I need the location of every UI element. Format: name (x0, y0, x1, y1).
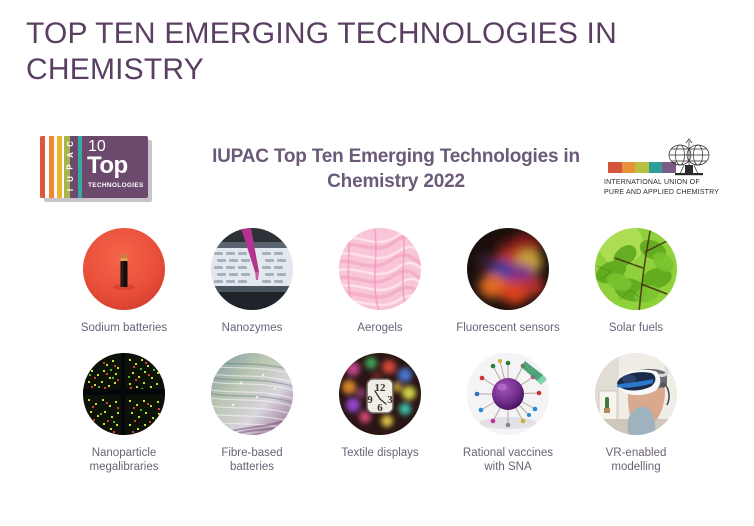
tech-item-rational-vaccines-sna[interactable]: Rational vaccines with SNA (444, 353, 572, 474)
tech-label: Fibre-based batteries (221, 446, 282, 474)
iupac-official-logo: INTERNATIONAL UNION OF PURE AND APPLIED … (604, 138, 730, 200)
tech-item-fluorescent-sensors[interactable]: Fluorescent sensors (444, 228, 572, 335)
tech-label: Sodium batteries (81, 321, 167, 335)
tech-label: Nanoparticle megalibraries (89, 446, 158, 474)
page-title: TOP TEN EMERGING TECHNOLOGIES IN CHEMIST… (26, 16, 726, 88)
nanozyme-pipette-photo (211, 228, 293, 310)
vr-headset-photo (595, 353, 677, 435)
pink-aerogel-photo (339, 228, 421, 310)
tech-item-nanoparticle-megalibraries[interactable]: Nanoparticle megalibraries (60, 353, 188, 474)
tech-label: VR-enabled modelling (606, 446, 667, 474)
technology-grid: Sodium batteries (60, 228, 700, 474)
badge-letter-u: U (67, 176, 75, 182)
badge-iupac-vertical-text: I U P A C (64, 136, 78, 198)
tech-item-solar-fuels[interactable]: Solar fuels (572, 228, 700, 335)
badge-technologies-text: TECHNOLOGIES (88, 182, 144, 190)
slide-page: TOP TEN EMERGING TECHNOLOGIES IN CHEMIST… (0, 0, 754, 526)
badge-letter-a: A (67, 152, 75, 158)
microarray-photo (83, 353, 165, 435)
badge-letter-c: C (67, 141, 75, 147)
tech-label: Solar fuels (609, 321, 663, 335)
iupac-bar-segment-2 (622, 162, 636, 173)
svg-text:9: 9 (367, 394, 373, 406)
slide-heading: IUPAC Top Ten Emerging Technologies in C… (196, 144, 596, 194)
iupac-caption-line2: PURE AND APPLIED CHEMISTRY (604, 188, 730, 198)
iupac-top-ten-badge-logo: I U P A C 10 Top TECHNOLOGIES (40, 136, 152, 202)
tech-label: Fluorescent sensors (456, 321, 560, 335)
globe-icon (660, 138, 718, 178)
iupac-caption-line1: INTERNATIONAL UNION OF (604, 178, 730, 188)
tech-item-aerogels[interactable]: Aerogels (316, 228, 444, 335)
svg-text:3: 3 (387, 394, 393, 406)
badge-top-text: Top (87, 153, 128, 179)
iupac-bar-segment-3 (635, 162, 649, 173)
tech-item-vr-enabled-modelling[interactable]: VR-enabled modelling (572, 353, 700, 474)
iupac-caption: INTERNATIONAL UNION OF PURE AND APPLIED … (604, 178, 730, 197)
iupac-bar-segment-1 (608, 162, 622, 173)
fibre-texture-photo (211, 353, 293, 435)
badge-text-block: 10 Top TECHNOLOGIES (82, 136, 148, 198)
tech-label: Textile displays (341, 446, 418, 460)
technology-row-2: Nanoparticle megalibraries (60, 353, 700, 474)
badge-letter-i: I (67, 189, 75, 191)
tech-item-sodium-batteries[interactable]: Sodium batteries (60, 228, 188, 335)
technology-row-1: Sodium batteries (60, 228, 700, 335)
badge-letter-p: P (67, 164, 75, 169)
badge-body: I U P A C 10 Top TECHNOLOGIES (40, 136, 148, 198)
tech-item-fibre-based-batteries[interactable]: Fibre-based batteries (188, 353, 316, 474)
tech-label: Rational vaccines with SNA (463, 446, 553, 474)
smartwatch-bokeh-photo: 12 9 3 6 (339, 353, 421, 435)
sodium-battery-photo (83, 228, 165, 310)
tech-item-nanozymes[interactable]: Nanozymes (188, 228, 316, 335)
svg-text:6: 6 (377, 402, 383, 414)
green-leaves-photo (595, 228, 677, 310)
slide-panel: I U P A C 10 Top TECHNOLOGIES IUPAC Top … (0, 108, 754, 526)
spherical-nucleic-acid-render (467, 353, 549, 435)
fluorescent-sensor-photo (467, 228, 549, 310)
tech-label: Aerogels (357, 321, 402, 335)
tech-item-textile-displays[interactable]: 12 9 3 6 Textile displays (316, 353, 444, 460)
tech-label: Nanozymes (222, 321, 283, 335)
